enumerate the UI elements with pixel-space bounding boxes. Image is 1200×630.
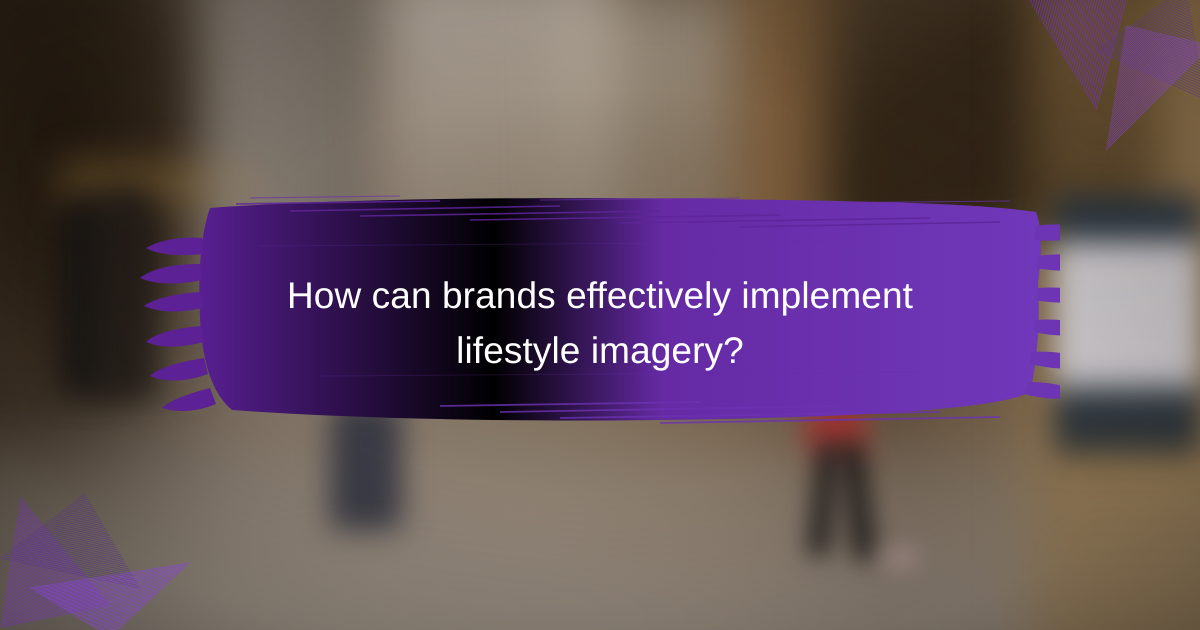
share-card: How can brands effectively implement lif… [0,0,1200,630]
headline-line-1: How can brands effectively implement [200,268,1000,323]
page-title: How can brands effectively implement lif… [200,268,1000,378]
headline-line-2: lifestyle imagery? [200,323,1000,378]
